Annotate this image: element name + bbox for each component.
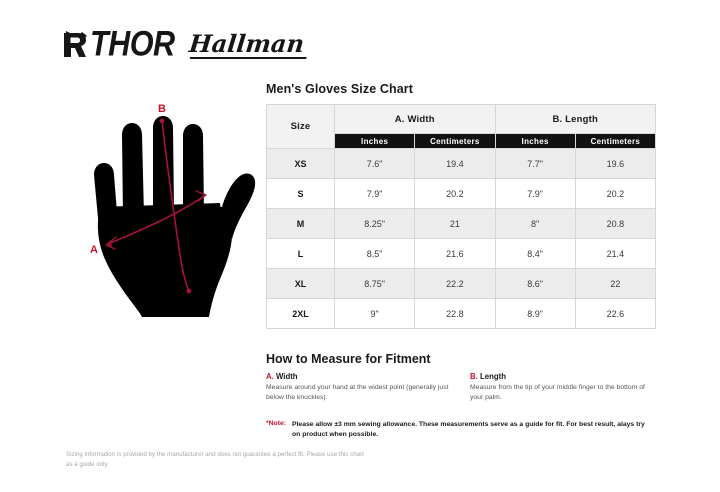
measure-length-name: Length xyxy=(480,372,506,381)
note-label: *Note: xyxy=(266,420,286,427)
hallman-logo: Hallman xyxy=(188,32,306,59)
cell-width-in: 7.9" xyxy=(335,179,415,209)
cell-width-cm: 20.2 xyxy=(415,179,495,209)
measure-length-body: Measure from the tip of your middle fing… xyxy=(470,383,660,403)
cell-size: XS xyxy=(267,149,335,179)
cell-width-in: 8.75" xyxy=(335,269,415,299)
measure-length-heading: B. Length xyxy=(470,372,660,381)
cell-width-cm: 22.2 xyxy=(415,269,495,299)
header-width-inches: Inches xyxy=(335,134,415,149)
thor-logo: THOR xyxy=(62,30,173,60)
measure-width-heading: A. Width xyxy=(266,372,456,381)
cell-length-cm: 19.6 xyxy=(575,149,655,179)
header-group-length: B. Length xyxy=(495,105,656,134)
header-width-centimeters: Centimeters xyxy=(415,134,495,149)
measure-length-block: B. Length Measure from the tip of your m… xyxy=(470,372,660,403)
cell-width-cm: 22.8 xyxy=(415,299,495,329)
measure-width-block: A. Width Measure around your hand at the… xyxy=(266,372,456,403)
cell-length-in: 8" xyxy=(495,209,575,239)
cell-length-in: 7.7" xyxy=(495,149,575,179)
measure-length-letter: B. xyxy=(470,372,478,381)
hallman-wordmark: Hallman xyxy=(188,29,306,58)
label-a: A xyxy=(90,244,98,256)
table-row: XS 7.6" 19.4 7.7" 19.6 xyxy=(267,149,656,179)
cell-width-cm: 19.4 xyxy=(415,149,495,179)
measure-width-body: Measure around your hand at the widest p… xyxy=(266,383,456,403)
cell-width-cm: 21 xyxy=(415,209,495,239)
thor-hammer-mark-icon xyxy=(62,30,88,60)
header-length-centimeters: Centimeters xyxy=(575,134,655,149)
cell-width-in: 8.25" xyxy=(335,209,415,239)
cell-size: XL xyxy=(267,269,335,299)
note-row: *Note: Please allow ±3 mm sewing allowan… xyxy=(266,420,648,440)
table-row: XL 8.75" 22.2 8.6" 22 xyxy=(267,269,656,299)
header-size: Size xyxy=(267,105,335,149)
thor-wordmark: THOR xyxy=(90,27,175,62)
cell-size: L xyxy=(267,239,335,269)
table-row: M 8.25" 21 8" 20.8 xyxy=(267,209,656,239)
cell-length-cm: 20.8 xyxy=(575,209,655,239)
header-group-width: A. Width xyxy=(335,105,496,134)
cell-size: M xyxy=(267,209,335,239)
cell-length-cm: 22.6 xyxy=(575,299,655,329)
hallman-underline-swash xyxy=(190,57,307,59)
measure-width-letter: A. xyxy=(266,372,274,381)
hand-measurement-diagram: B A xyxy=(70,95,265,320)
table-header-row-groups: Size A. Width B. Length xyxy=(267,105,656,134)
table-row: S 7.9" 20.2 7.9" 20.2 xyxy=(267,179,656,209)
hand-silhouette-icon: B A xyxy=(70,95,265,320)
cell-length-cm: 20.2 xyxy=(575,179,655,209)
cell-width-in: 7.6" xyxy=(335,149,415,179)
cell-length-in: 8.6" xyxy=(495,269,575,299)
table-row: L 8.5" 21.6 8.4" 21.4 xyxy=(267,239,656,269)
size-chart-table: Size A. Width B. Length Inches Centimete… xyxy=(266,104,656,329)
cell-length-cm: 22 xyxy=(575,269,655,299)
table-row: 2XL 9" 22.8 8.9" 22.6 xyxy=(267,299,656,329)
size-chart-page: THOR Hallman xyxy=(0,0,720,492)
cell-size: S xyxy=(267,179,335,209)
cell-size: 2XL xyxy=(267,299,335,329)
cell-length-in: 8.4" xyxy=(495,239,575,269)
header-length-inches: Inches xyxy=(495,134,575,149)
cell-length-in: 7.9" xyxy=(495,179,575,209)
brand-logo-row: THOR Hallman xyxy=(62,30,304,60)
howto-title: How to Measure for Fitment xyxy=(266,352,431,366)
page-title: Men's Gloves Size Chart xyxy=(266,82,413,96)
cell-length-in: 8.9" xyxy=(495,299,575,329)
table-body: XS 7.6" 19.4 7.7" 19.6 S 7.9" 20.2 7.9" … xyxy=(267,149,656,329)
cell-width-cm: 21.6 xyxy=(415,239,495,269)
footer-disclaimer: Sizing information is provided by the ma… xyxy=(66,450,366,470)
measure-width-name: Width xyxy=(276,372,298,381)
note-text: Please allow ±3 mm sewing allowance. The… xyxy=(292,420,648,440)
label-b: B xyxy=(158,103,166,115)
cell-width-in: 9" xyxy=(335,299,415,329)
cell-width-in: 8.5" xyxy=(335,239,415,269)
table-head: Size A. Width B. Length Inches Centimete… xyxy=(267,105,656,149)
cell-length-cm: 21.4 xyxy=(575,239,655,269)
